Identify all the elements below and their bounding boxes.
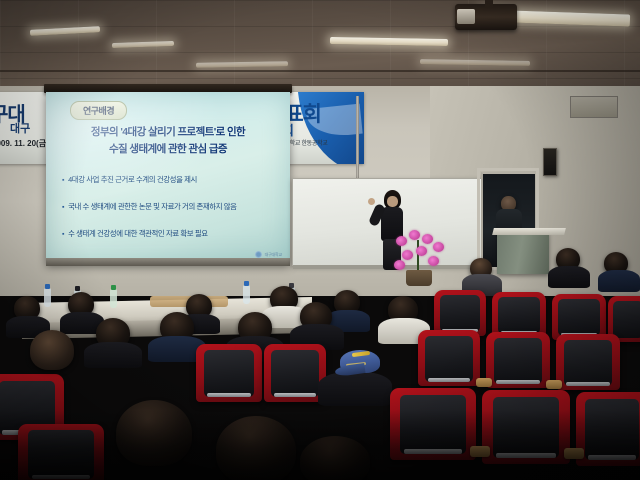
podium-top-surface — [492, 228, 566, 235]
seat-back-pad — [28, 430, 93, 479]
bullet-marker-icon: ▪ — [62, 204, 64, 211]
seat-chrome-strip — [207, 393, 252, 397]
seat-armrest — [546, 380, 562, 389]
slide-bullet-text: 4대강 사업 추진 근거로 수계의 건강성을 제시 — [68, 175, 197, 184]
slide-bullet-item: ▪국내 수 생태계에 관한한 논문 및 자료가 거의 존재하지 않음 — [62, 201, 280, 212]
blue-baseball-cap — [340, 350, 380, 378]
orchid-bloom — [396, 236, 407, 246]
orchid-bloom — [433, 242, 444, 252]
auditorium-seat[interactable] — [482, 390, 570, 464]
audience-head — [30, 330, 74, 370]
auditorium-seat[interactable] — [576, 392, 640, 466]
orchid-bloom — [428, 256, 439, 266]
seat-back-pad — [425, 336, 472, 382]
auditorium-seat[interactable] — [418, 330, 480, 386]
bottle-cap — [111, 285, 116, 290]
audience-head — [116, 400, 192, 466]
seat-back-pad — [493, 397, 560, 458]
screen-lower-edge — [46, 258, 290, 266]
slide-heading-line-1: 정부의 '4대강 살리기 프로젝트'로 인한 — [46, 124, 290, 141]
slide-heading: 정부의 '4대강 살리기 프로젝트'로 인한 수질 생태계에 관한 관심 급증 — [46, 124, 290, 158]
auditorium-seat[interactable] — [486, 332, 550, 388]
banner-left-sub-text: 대구 — [10, 120, 30, 136]
banner-left: 구대 대구 2009. 11. 20(금) — [0, 92, 52, 164]
podium — [497, 232, 549, 274]
water-bottle — [44, 288, 51, 307]
bottle-cap — [45, 284, 50, 289]
bottle-cap — [75, 286, 80, 291]
seat-armrest — [476, 378, 492, 387]
slide-bullet-item: ▪4대강 사업 추진 근거로 수계의 건강성을 제시 — [62, 174, 280, 185]
audience-shoulders — [598, 270, 640, 292]
wall-speaker-icon — [543, 148, 557, 176]
audience-head — [300, 436, 370, 480]
orchid-bloom — [416, 246, 427, 256]
slide-section-tab: 연구배경 — [70, 101, 127, 120]
seat-armrest — [564, 448, 584, 459]
seat-back-pad — [204, 350, 254, 398]
water-bottle — [110, 289, 117, 308]
seat-chrome-strip — [496, 380, 540, 384]
projector-mount — [485, 0, 493, 8]
auditorium-seat[interactable] — [18, 424, 104, 480]
audience-shoulders — [548, 266, 590, 288]
orchid-bloom — [394, 260, 405, 270]
audience-shoulders — [84, 342, 142, 368]
bullet-marker-icon: ▪ — [62, 231, 64, 238]
water-bottle — [243, 285, 250, 304]
seat-back-pad — [564, 340, 613, 386]
seat-back-pad — [271, 350, 318, 398]
auditorium-seat[interactable] — [264, 344, 326, 402]
ceiling-seam — [0, 70, 640, 72]
seat-back-pad — [440, 295, 480, 333]
slide-logo-text: 대구대학교 — [265, 252, 282, 258]
orchid-pot — [406, 270, 432, 286]
seat-chrome-strip — [428, 378, 470, 382]
audience-head — [216, 416, 296, 480]
slide-bullet-item: ▪수 생태계 건강성에 대한 객관적인 자료 확보 필요 — [62, 228, 280, 239]
seat-chrome-strip — [588, 455, 637, 460]
bottle-cap — [244, 281, 249, 286]
orchid-stem — [417, 240, 419, 272]
presenter-hand — [368, 198, 375, 205]
slide-bullet-list: ▪4대강 사업 추진 근거로 수계의 건강성을 제시 ▪국내 수 생태계에 관한… — [62, 174, 280, 255]
seat-back-pad — [613, 301, 640, 339]
seat-armrest — [470, 446, 490, 457]
orchid-bloom — [422, 234, 433, 244]
wall-vent — [570, 96, 618, 118]
presenter-face — [387, 196, 398, 207]
seat-back-pad — [558, 299, 599, 337]
orchid-bloom — [402, 250, 413, 260]
lecture-hall-photo: 구대 대구 2009. 11. 20(금) 발표회 표회 대구대학교 한동공학교… — [0, 0, 640, 480]
seat-chrome-strip — [32, 475, 90, 479]
slide-logo-mark-icon — [255, 251, 262, 258]
ceiling — [0, 0, 640, 96]
seat-chrome-strip — [566, 382, 610, 386]
seat-back-pad — [400, 395, 465, 454]
projector-lens — [457, 9, 475, 24]
auditorium-seat[interactable] — [556, 334, 620, 390]
seat-back-pad — [494, 338, 543, 384]
seat-back-pad — [585, 399, 640, 460]
slide-bullet-text: 수 생태계 건강성에 대한 객관적인 자료 확보 필요 — [68, 229, 208, 238]
orchid-bloom — [409, 230, 420, 240]
seat-chrome-strip — [274, 393, 316, 397]
slide-logo: 대구대학교 — [255, 251, 282, 258]
auditorium-seat[interactable] — [390, 388, 476, 460]
banner-left-date-text: 2009. 11. 20(금) — [0, 138, 49, 149]
slide-bullet-text: 국내 수 생태계에 관한한 논문 및 자료가 거의 존재하지 않음 — [68, 202, 236, 211]
slide-heading-line-2: 수질 생태계에 관한 관심 급증 — [46, 141, 290, 158]
seat-back-pad — [498, 297, 539, 335]
auditorium-seat[interactable] — [196, 344, 262, 402]
orchid-plant — [392, 228, 448, 286]
ceiling-projector-icon — [455, 4, 517, 30]
projection-screen: 연구배경 정부의 '4대강 살리기 프로젝트'로 인한 수질 생태계에 관한 관… — [46, 92, 290, 264]
bullet-marker-icon: ▪ — [62, 177, 64, 184]
seat-chrome-strip — [404, 449, 462, 454]
seat-chrome-strip — [496, 453, 556, 458]
